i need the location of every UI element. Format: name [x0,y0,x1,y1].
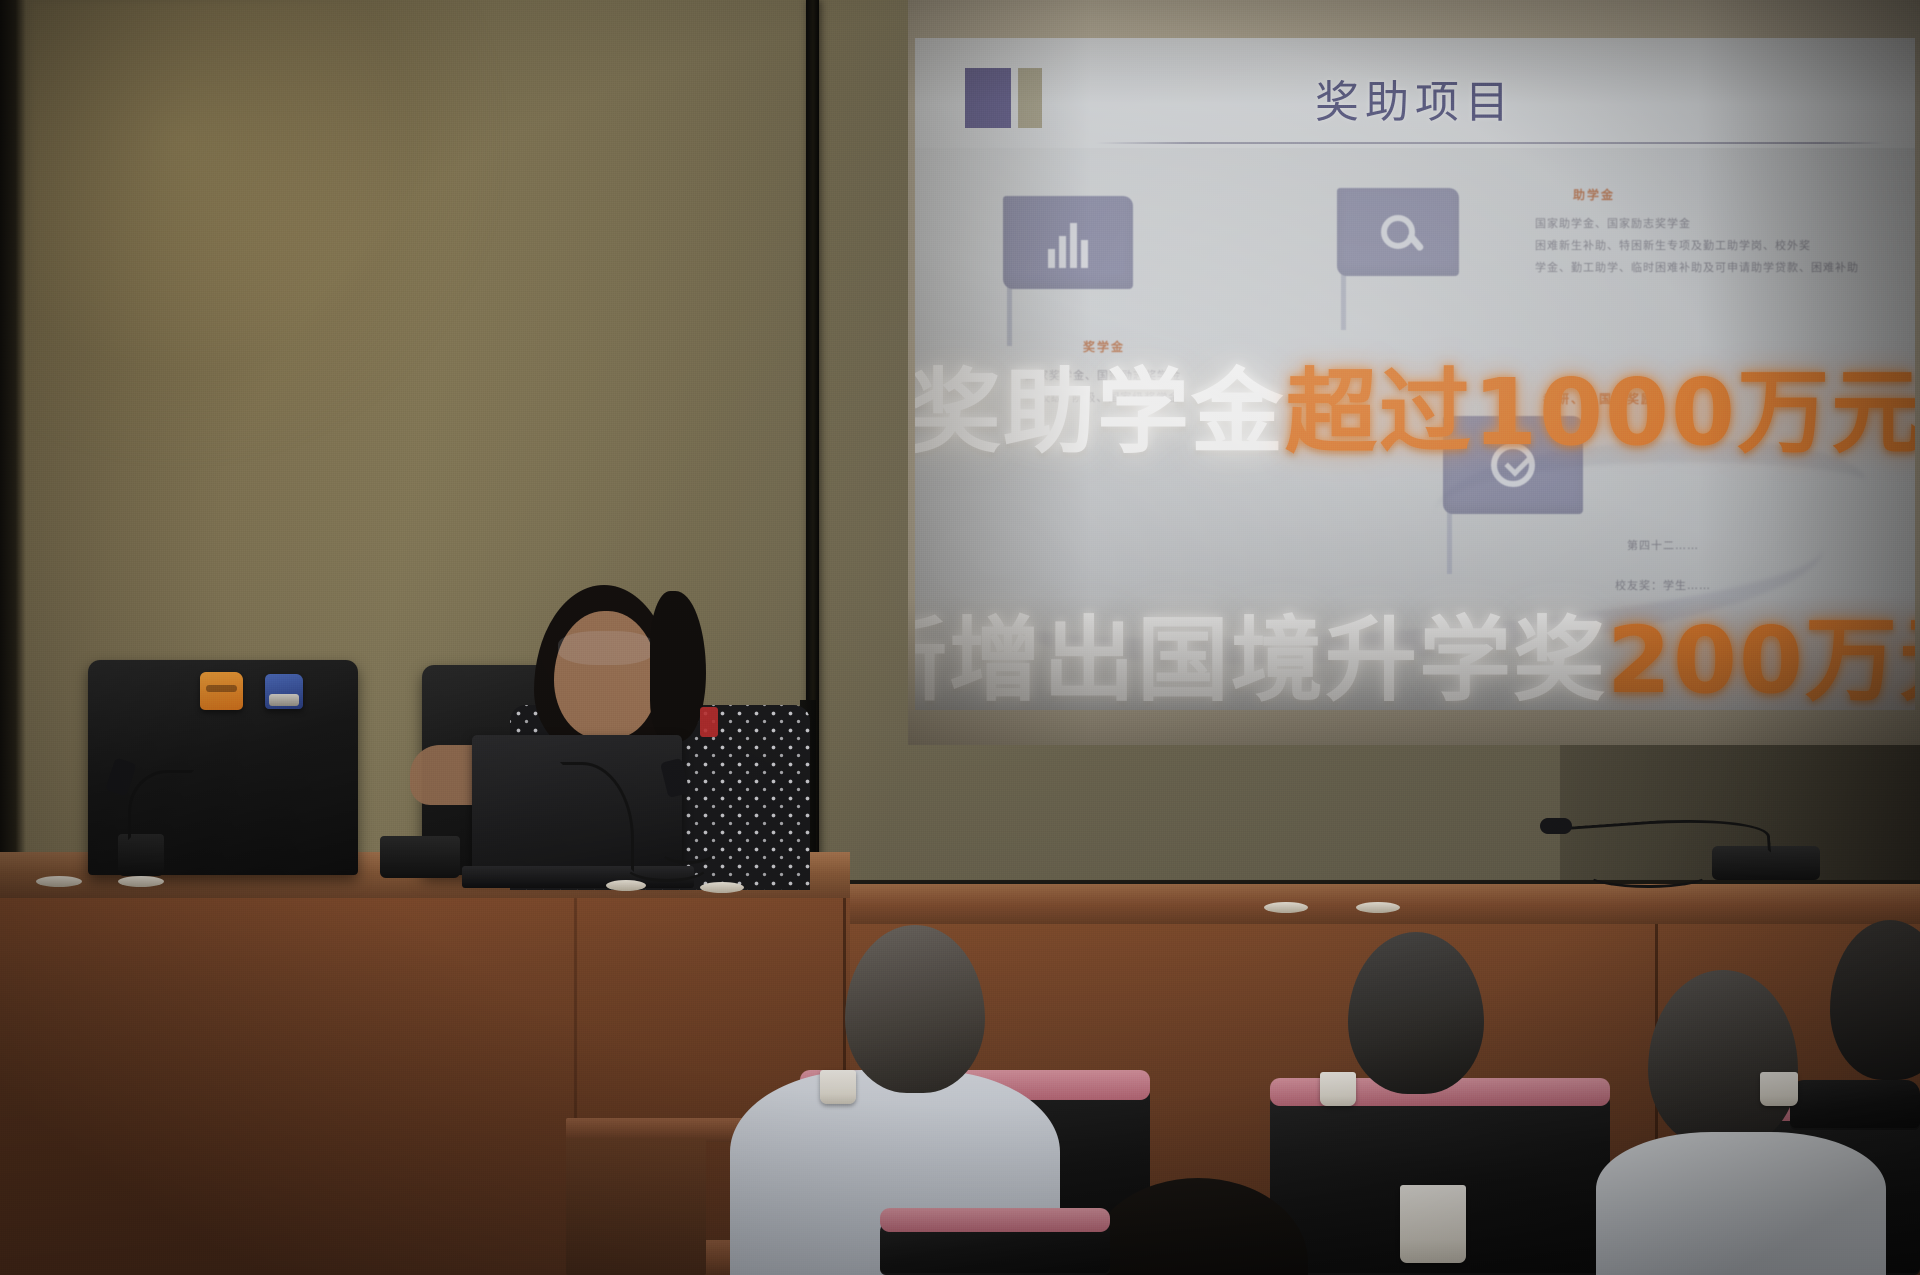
overlay-headline-line2: 新增出国境升学奖200万元 [915,586,1915,710]
desk-plate-5 [1264,902,1308,913]
overlay-line1-white: 奖助学金 [915,359,1285,466]
presenter-badge [700,707,718,737]
stage-desk-front-left [0,898,850,1275]
podium-microphone-left-base [118,834,164,876]
cluster-line-grant-3: 学金、勤工助学、临时困难补助及可申请助学贷款、困难补助 [1535,260,1859,276]
presenter-glasses [558,631,654,665]
magnifier-flag-icon [1337,188,1459,330]
podium-microphone-right-capsule [1540,818,1572,834]
podium-microphone-center-base [380,836,460,878]
overlay-line2-orange: 200万元 [1607,607,1915,710]
paper-cup-3[interactable] [1760,1072,1798,1106]
paper-cup-4[interactable] [1400,1185,1466,1263]
overlay-headline-line1: 奖助学金超过1000万元 [915,338,1915,471]
paper-cup-2[interactable] [1320,1072,1356,1106]
orange-stapler[interactable] [200,672,243,710]
desk-cable-3 [1588,862,1708,888]
paper-cup-1[interactable] [820,1070,856,1104]
audience-chair-5-trim [880,1208,1110,1232]
desk-plate-1 [36,876,82,887]
desk-plate-6 [1356,902,1400,913]
bar-chart-flag-icon [1003,196,1133,346]
presenter-hair-right [650,591,706,741]
overlay-line2-white: 新增出国境升学奖 [915,607,1607,710]
conference-room-photo: 奖助项目 奖学金 国家奖学金、国家励志奖学金 校级: 院级、国家级奖学金 助学金… [0,0,1920,1275]
projection-screen: 奖助项目 奖学金 国家奖学金、国家励志奖学金 校级: 院级、国家级奖学金 助学金… [908,0,1920,745]
presentation-slide: 奖助项目 奖学金 国家奖学金、国家励志奖学金 校级: 院级、国家级奖学金 助学金… [915,38,1915,710]
desk-cable-2 [660,838,716,864]
attendee-front-right-shoulders [1596,1132,1886,1275]
desk-plate-2 [118,876,164,887]
desk-plate-4 [700,882,744,893]
audience-chair-4 [1790,1080,1920,1130]
cluster-line-grant-1: 国家助学金、国家励志奖学金 [1535,216,1691,232]
overlay-line1-orange: 超过1000万元 [1285,359,1915,466]
cluster-line-grant-2: 困难新生补助、特困新生专项及勤工助学岗、校外奖 [1535,238,1811,254]
cluster-heading-grant: 助学金 [1573,186,1615,203]
cluster-line-graduate-1: 第四十二…… [1627,538,1699,554]
slide-title: 奖助项目 [915,66,1915,130]
slide-header-rule [1095,142,1885,144]
audience-bench-left-side [566,1138,706,1275]
desk-plate-3 [606,880,646,891]
blue-stapler[interactable] [265,674,303,709]
